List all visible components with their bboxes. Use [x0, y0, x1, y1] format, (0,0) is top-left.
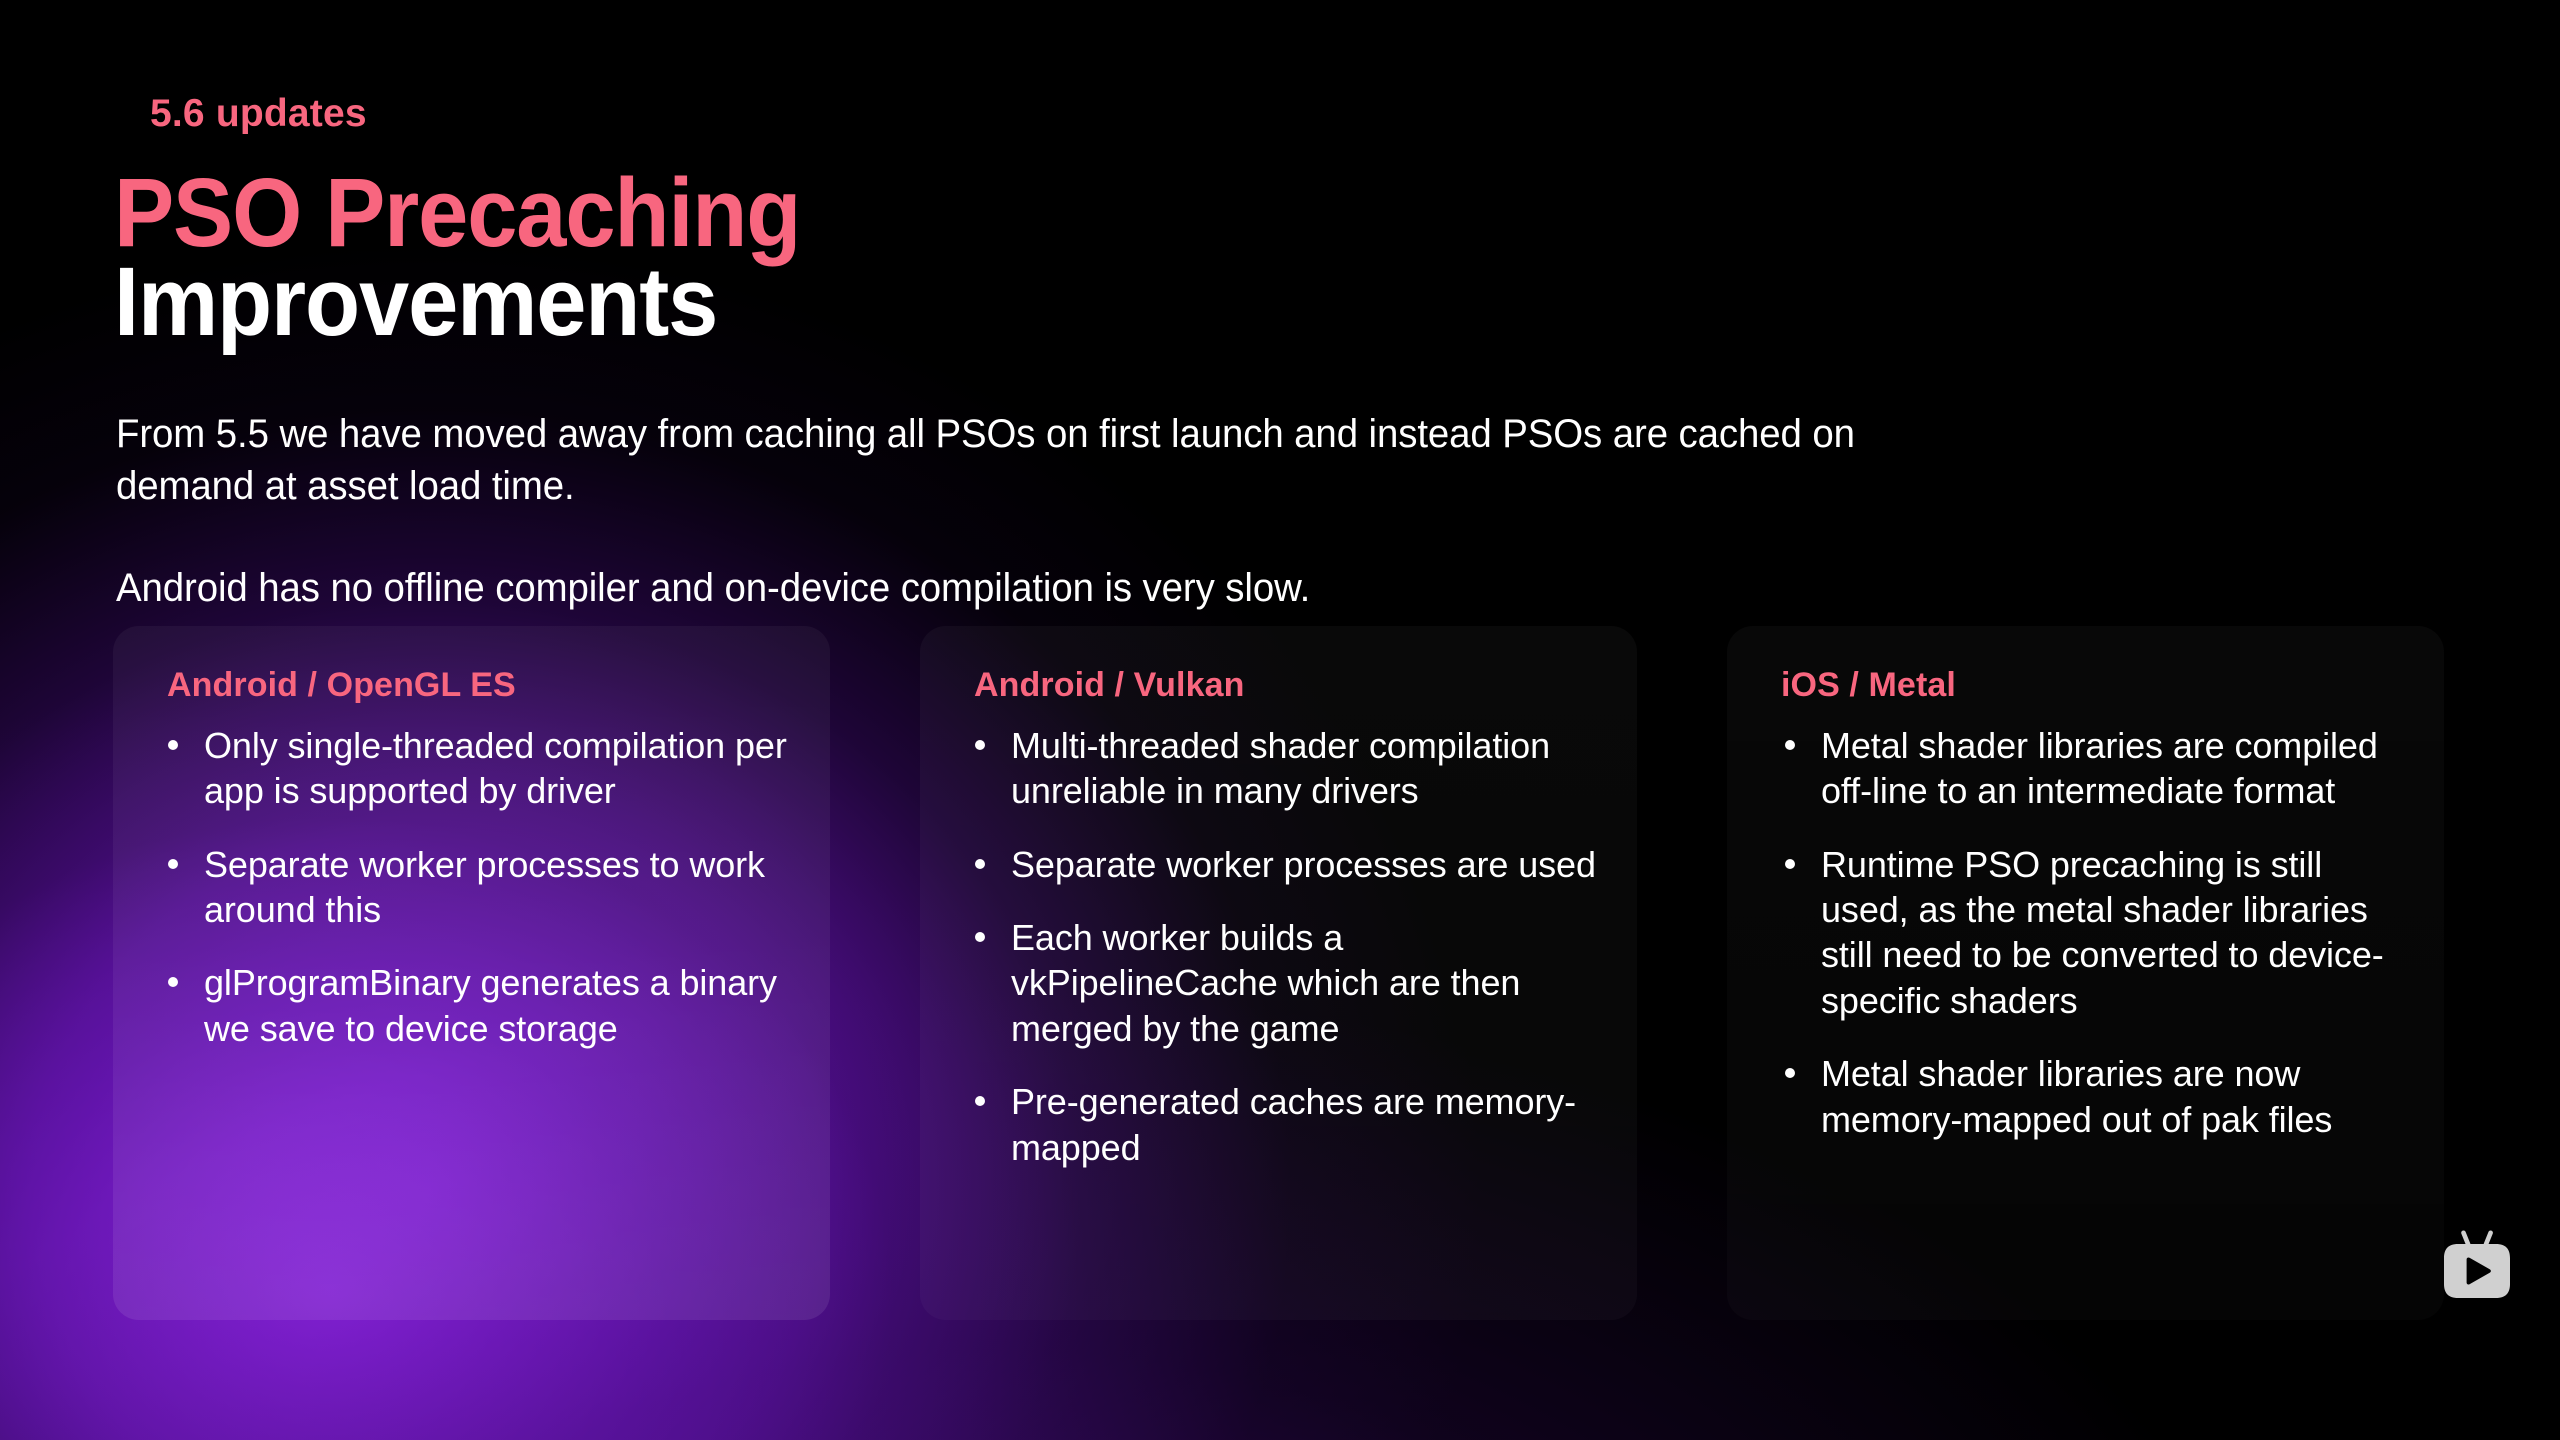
platform-card-bullet-list: Metal shader libraries are compiled off-… — [1763, 723, 2408, 1142]
intro-paragraph-1: From 5.5 we have moved away from caching… — [116, 408, 1873, 512]
slide-content: 5.6 updates PSO Precaching Improvements … — [0, 0, 2560, 1440]
platform-card-bullet-list: Multi-threaded shader compilation unreli… — [956, 723, 1601, 1170]
bullet-text: Multi-threaded shader compilation unreli… — [1011, 725, 1550, 811]
platform-columns: Android / OpenGL ES Only single-threaded… — [113, 626, 2445, 1320]
bullet-text: Each worker builds a vkPipelineCache whi… — [1011, 917, 1520, 1049]
platform-card-ios-metal: iOS / Metal Metal shader libraries are c… — [1727, 626, 2444, 1320]
bullet-text: Metal shader libraries are compiled off-… — [1821, 725, 2378, 811]
list-item: Separate worker processes are used — [956, 842, 1601, 887]
list-item: Pre-generated caches are memory-mapped — [956, 1079, 1601, 1170]
slide-title-line-1: PSO Precaching — [114, 168, 1509, 257]
bullet-dot-icon — [975, 932, 985, 942]
list-item: Metal shader libraries are compiled off-… — [1763, 723, 2408, 814]
bullet-dot-icon — [1785, 1068, 1795, 1078]
tv-play-icon — [2438, 1228, 2516, 1306]
slide-title-block: PSO Precaching Improvements — [114, 168, 1614, 346]
platform-card-bullet-list: Only single-threaded compilation per app… — [149, 723, 794, 1051]
bullet-text: glProgramBinary generates a binary we sa… — [204, 962, 777, 1048]
bullet-dot-icon — [975, 1096, 985, 1106]
platform-card-title: Android / OpenGL ES — [167, 666, 794, 705]
bullet-text: Runtime PSO precaching is still used, as… — [1821, 844, 2384, 1021]
list-item: Multi-threaded shader compilation unreli… — [956, 723, 1601, 814]
list-item: Metal shader libraries are now memory-ma… — [1763, 1051, 2408, 1142]
bullet-dot-icon — [975, 740, 985, 750]
slide-intro: From 5.5 we have moved away from caching… — [116, 408, 1873, 614]
bullet-text: Separate worker processes are used — [1011, 844, 1596, 885]
bullet-text: Only single-threaded compilation per app… — [204, 725, 787, 811]
bullet-text: Separate worker processes to work around… — [204, 844, 765, 930]
list-item: Separate worker processes to work around… — [149, 842, 794, 933]
list-item: Only single-threaded compilation per app… — [149, 723, 794, 814]
list-item: Each worker builds a vkPipelineCache whi… — [956, 915, 1601, 1051]
bullet-dot-icon — [168, 740, 178, 750]
platform-card-title: Android / Vulkan — [974, 666, 1601, 705]
list-item: Runtime PSO precaching is still used, as… — [1763, 842, 2408, 1023]
bullet-dot-icon — [1785, 859, 1795, 869]
bullet-dot-icon — [1785, 740, 1795, 750]
bullet-dot-icon — [168, 859, 178, 869]
bullet-dot-icon — [975, 859, 985, 869]
list-item: glProgramBinary generates a binary we sa… — [149, 960, 794, 1051]
platform-card-android-opengl-es: Android / OpenGL ES Only single-threaded… — [113, 626, 830, 1320]
bullet-text: Metal shader libraries are now memory-ma… — [1821, 1053, 2332, 1139]
slide-eyebrow: 5.6 updates — [150, 92, 367, 136]
platform-card-title: iOS / Metal — [1781, 666, 2408, 705]
platform-card-android-vulkan: Android / Vulkan Multi-threaded shader c… — [920, 626, 1637, 1320]
intro-paragraph-2: Android has no offline compiler and on-d… — [116, 562, 1873, 614]
bullet-text: Pre-generated caches are memory-mapped — [1011, 1081, 1576, 1167]
slide-title-line-2: Improvements — [114, 257, 1509, 346]
slide-root: 5.6 updates PSO Precaching Improvements … — [0, 0, 2560, 1440]
bullet-dot-icon — [168, 977, 178, 987]
